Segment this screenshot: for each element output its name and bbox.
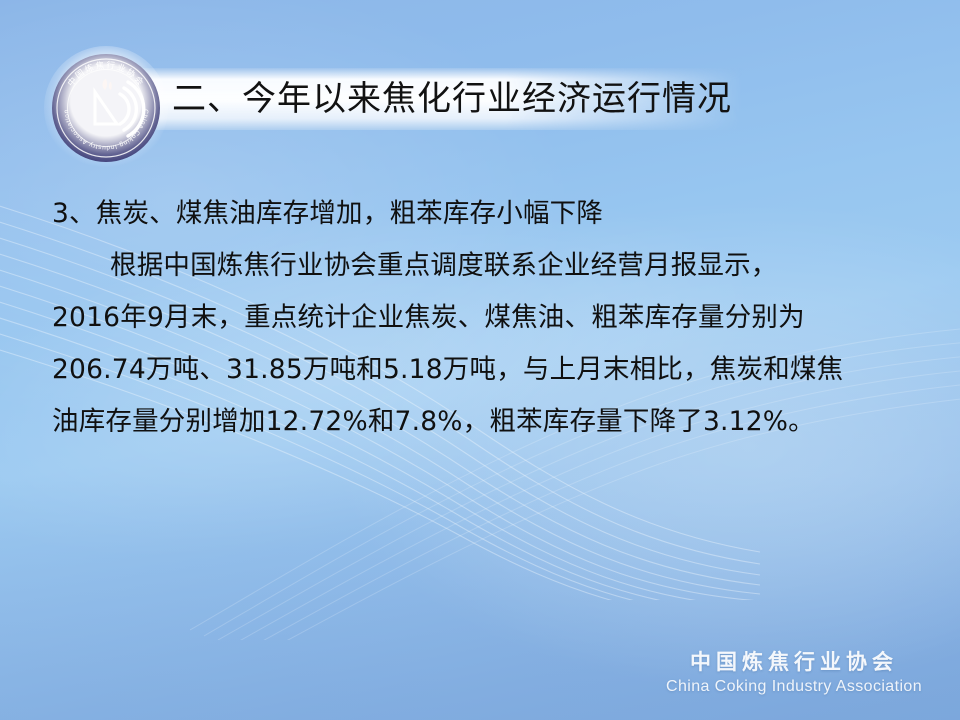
slide-body-text: 3、焦炭、煤焦油库存增加，粗苯库存小幅下降 根据中国炼焦行业协会重点调度联系企业…: [52, 188, 932, 448]
footer-brand-cn: 中国炼焦行业协会: [644, 648, 944, 676]
presentation-slide: 二、今年以来焦化行业经济运行情况 中国炼焦行业协会 China Coking I…: [0, 0, 960, 720]
body-line: 根据中国炼焦行业协会重点调度联系企业经营月报显示，: [52, 240, 932, 292]
page-title: 二、今年以来焦化行业经济运行情况: [172, 74, 872, 124]
footer-branding: 中国炼焦行业协会 China Coking Industry Associati…: [644, 648, 944, 698]
body-line: 油库存量分别增加12.72%和7.8%，粗苯库存量下降了3.12%。: [52, 396, 932, 448]
body-line: 206.74万吨、31.85万吨和5.18万吨，与上月末相比，焦炭和煤焦: [52, 344, 932, 396]
footer-brand-en: China Coking Industry Association: [644, 676, 944, 698]
logo-halo: [44, 46, 168, 170]
body-line: 2016年9月末，重点统计企业焦炭、煤焦油、粗苯库存量分别为: [52, 292, 932, 344]
body-line: 3、焦炭、煤焦油库存增加，粗苯库存小幅下降: [52, 188, 932, 240]
association-logo: 中国炼焦行业协会 China Coking Industry Associati…: [50, 52, 162, 164]
